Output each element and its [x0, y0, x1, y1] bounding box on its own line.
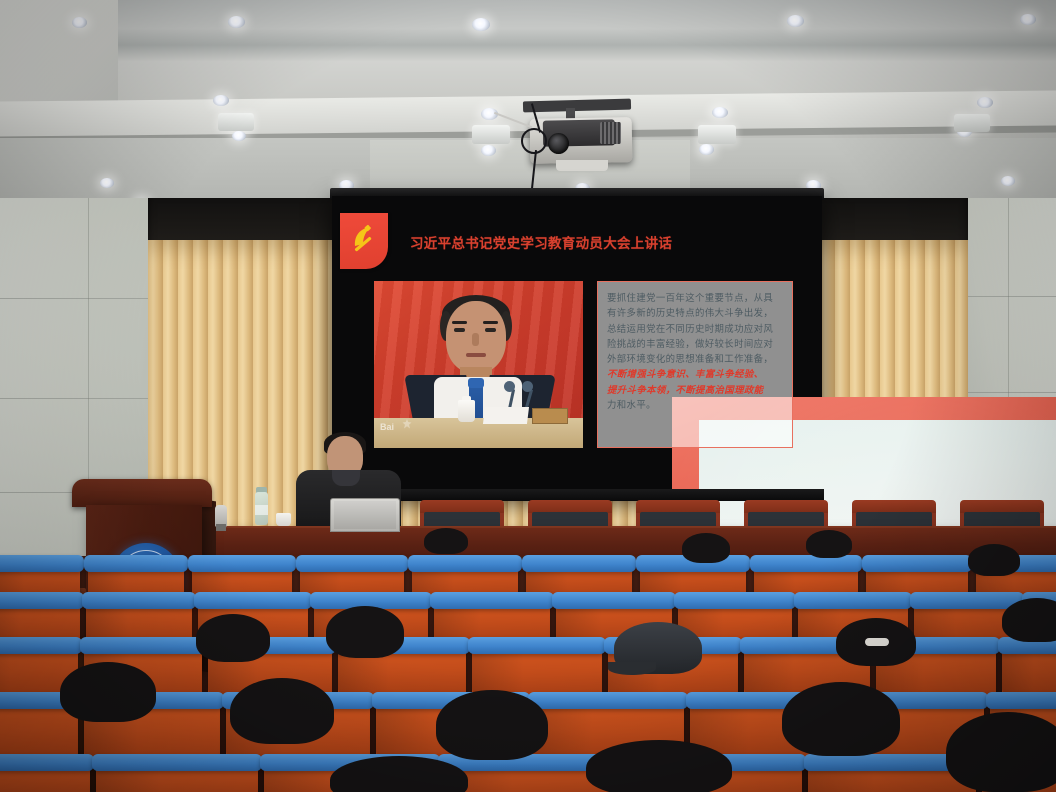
auditorium-seat[interactable] [434, 592, 550, 642]
ceiling-rect-light-icon [218, 113, 254, 131]
paper-cup [276, 513, 291, 526]
microphone-icon [522, 381, 533, 392]
seat-top-rail [430, 592, 554, 609]
seat-top-rail [862, 555, 972, 572]
seat-top-rail [750, 555, 862, 572]
slide-body-line: 要抓住建党一百年这个重要节点，从具 [607, 291, 784, 306]
attendee-head [586, 740, 732, 792]
portrait-papers [483, 407, 529, 424]
seat-top-rail [522, 555, 636, 572]
projector-vent [600, 122, 621, 144]
portrait-brow [483, 321, 498, 324]
seat-top-rail [674, 592, 796, 609]
attendee-head [60, 662, 156, 722]
portrait-cup [458, 400, 475, 422]
auditorium-photo: 习近平总书记党史学习教育动员大会上讲话 Bai 要抓住建党一百年这个重要节点，从 [0, 0, 1056, 792]
attendee-head [782, 682, 900, 756]
auditorium-seat[interactable] [0, 754, 90, 792]
attendee-head [806, 530, 852, 558]
portrait-brow [452, 321, 467, 324]
attendee-head [436, 690, 548, 760]
recessed-downlight-icon [481, 145, 496, 156]
seat-top-rail [528, 692, 688, 709]
seat-back [1002, 647, 1056, 695]
attendee-head [946, 712, 1056, 792]
attendee-cap-brim [608, 662, 656, 675]
wall-seam [965, 392, 1056, 393]
microphone-icon [504, 381, 515, 392]
auditorium-seat[interactable] [0, 592, 80, 642]
podium-microphone-base [216, 524, 226, 531]
seat-top-rail [296, 555, 408, 572]
recessed-downlight-icon [1020, 14, 1036, 25]
seat-shading [1002, 647, 1056, 695]
slide-body-line: 总结运用党在不同历史时期成功应对风 [607, 322, 784, 337]
slide-body-line-emphasis: 不断增强斗争意识、丰富斗争经验、 [607, 367, 784, 382]
seat-top-rail [794, 592, 912, 609]
seat-top-rail [552, 592, 676, 609]
baidu-watermark: Bai [380, 422, 394, 432]
seat-top-rail [82, 592, 196, 609]
seat-top-rail [408, 555, 522, 572]
ceiling-rect-light-icon [954, 114, 990, 132]
wall-seam [0, 398, 148, 399]
seat-top-rail [0, 637, 82, 654]
recessed-downlight-icon [228, 16, 245, 28]
seat-top-rail [188, 555, 296, 572]
recessed-downlight-icon [472, 18, 490, 31]
recessed-downlight-icon [1001, 176, 1015, 186]
slide-photo: Bai [374, 281, 583, 448]
attendee-head [1002, 598, 1056, 642]
laptop-screen [334, 501, 396, 529]
recessed-downlight-icon [100, 178, 114, 188]
attendee-head [196, 614, 270, 662]
seat-top-rail [0, 555, 84, 572]
recessed-downlight-icon [977, 97, 993, 108]
attendee-head [424, 528, 468, 554]
seat-top-rail [468, 637, 606, 654]
seat-shading [472, 647, 602, 695]
auditorium-seat[interactable] [472, 637, 602, 695]
podium-top [72, 479, 212, 507]
attendee-hair-tie [865, 638, 889, 646]
recessed-downlight-icon [712, 107, 728, 118]
seat-top-rail [84, 555, 188, 572]
recessed-downlight-icon [787, 15, 804, 27]
portrait-nose [472, 333, 479, 346]
slide-title: 习近平总书记党史学习教育动员大会上讲话 [410, 232, 710, 252]
auditorium-seat[interactable] [86, 592, 192, 642]
attendee-head [230, 678, 334, 744]
seat-top-rail [80, 637, 206, 654]
seat-top-rail [0, 754, 94, 771]
slide-body-line: 有许多新的历史特点的伟大斗争出发， [607, 306, 784, 321]
portrait-nameplate [532, 408, 568, 424]
ceiling-rect-light-icon [698, 125, 736, 144]
attendee-head [682, 533, 730, 563]
portrait-eye [485, 328, 496, 332]
recessed-downlight-icon [699, 144, 714, 155]
seat-top-rail [194, 592, 312, 609]
slide-body-line: 力和水平。 [607, 398, 784, 413]
slide-text-box: 要抓住建党一百年这个重要节点，从具 有许多新的历史特点的伟大斗争出发， 总结运用… [597, 281, 793, 448]
attendee-head [968, 544, 1020, 576]
projector-lens [548, 133, 569, 154]
hammer-and-sickle-icon [349, 222, 379, 252]
wall-seam [0, 298, 148, 299]
wall-seam [965, 296, 1056, 297]
speaker-collar [332, 470, 360, 486]
seat-top-rail [986, 692, 1056, 709]
seat-top-rail [0, 592, 84, 609]
portrait-tie-knot [468, 378, 484, 388]
portrait-mouth [466, 353, 486, 357]
portrait-eye [454, 328, 465, 332]
seat-top-rail [92, 754, 262, 771]
auditorium-seat[interactable] [1002, 637, 1056, 695]
recessed-downlight-icon [213, 95, 229, 106]
recessed-downlight-icon [232, 131, 246, 141]
slide-body-line: 外部环境变化的思想准备和工作准备， [607, 352, 784, 367]
recessed-downlight-icon [72, 17, 87, 28]
seat-top-rail [910, 592, 1024, 609]
seat-back [472, 647, 602, 695]
ceiling-rect-light-icon [472, 125, 510, 144]
auditorium-seat[interactable] [96, 754, 258, 792]
projector-base [556, 160, 608, 171]
slide-body-line: 险挑战的丰富经验，做好较长时间应对 [607, 337, 784, 352]
attendee-head [326, 606, 404, 658]
water-bottle-label [255, 505, 268, 515]
slide-body-line-emphasis: 提升斗争本领，不断提高治国理政能 [607, 383, 784, 398]
